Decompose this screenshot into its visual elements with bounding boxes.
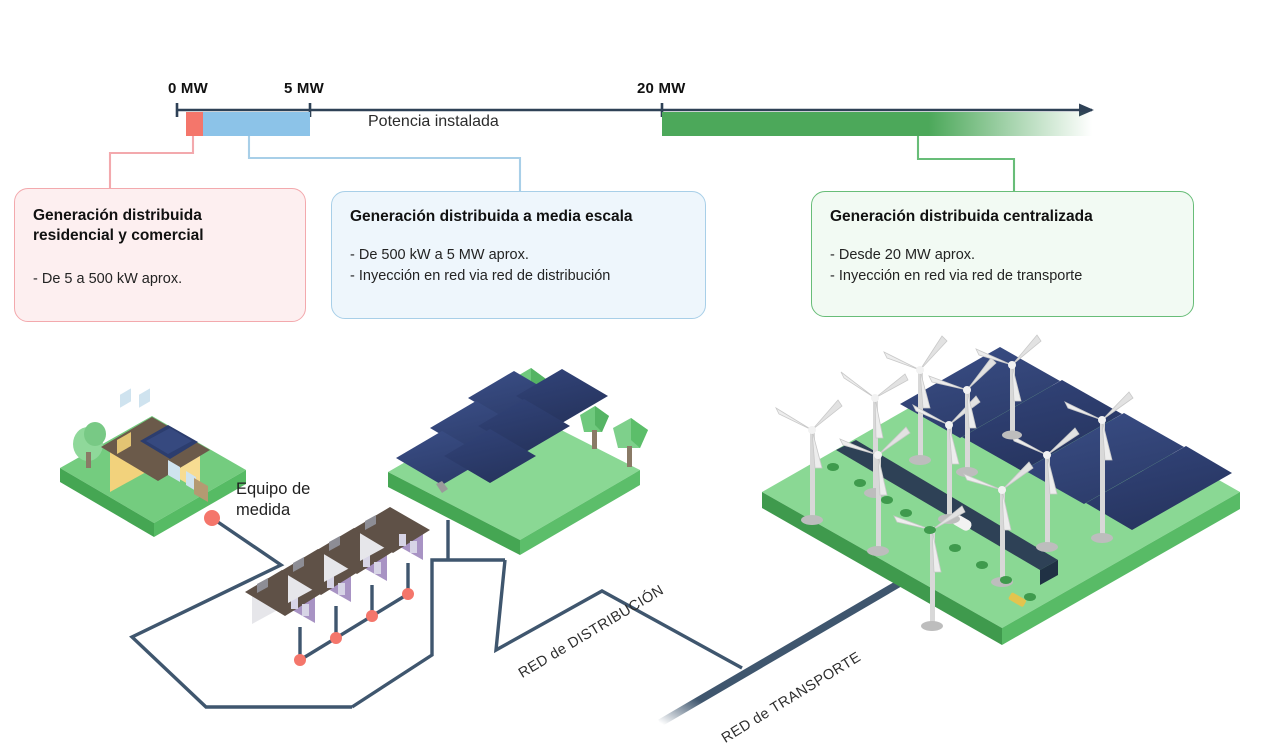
tick-label-20mw: 20 MW [637, 80, 686, 97]
meter-dot-house-3 [366, 610, 378, 622]
meter-dot-house-1 [294, 654, 306, 666]
meter-dot-house [204, 510, 220, 526]
info-box-midscale-title: Generación distribuida a media escala [350, 207, 687, 227]
scale-segment-centralized [662, 112, 1092, 136]
scale-segment-midscale [203, 112, 310, 136]
scale-segment-residential [186, 112, 203, 136]
connector-centralized [918, 136, 1014, 191]
info-box-centralized-body: - Desde 20 MW aprox. - Inyección en red … [830, 245, 1175, 286]
tick-label-0mw: 0 MW [168, 80, 208, 97]
distribution-network-lines [132, 518, 742, 707]
meter-label: Equipo de medida [236, 479, 310, 520]
tick-label-5mw: 5 MW [284, 80, 324, 97]
meter-dot-house-4 [402, 588, 414, 600]
connector-midscale [249, 136, 520, 191]
residential-house-scene [60, 388, 246, 537]
illustration-vector [0, 0, 1280, 749]
info-box-midscale-body: - De 500 kW a 5 MW aprox. - Inyección en… [350, 245, 687, 286]
info-box-residential-body: - De 5 a 500 kW aprox. [33, 269, 287, 290]
meter-dot-house-2 [330, 632, 342, 644]
info-box-midscale[interactable]: Generación distribuida a media escala - … [331, 191, 706, 319]
centralized-plant-scene [762, 335, 1240, 645]
info-box-centralized-title: Generación distribuida centralizada [830, 207, 1175, 227]
info-box-residential-title: Generación distribuida residencial y com… [33, 206, 287, 247]
axis-caption: Potencia instalada [368, 113, 499, 131]
midscale-solar-farm-scene [388, 368, 648, 555]
info-box-residential[interactable]: Generación distribuida residencial y com… [14, 188, 306, 322]
info-box-centralized[interactable]: Generación distribuida centralizada - De… [811, 191, 1194, 317]
houses-cluster-scene [245, 507, 430, 666]
infographic-canvas: 0 MW 5 MW 20 MW Potencia instalada Gener… [0, 0, 1280, 749]
connector-residential [110, 136, 193, 188]
